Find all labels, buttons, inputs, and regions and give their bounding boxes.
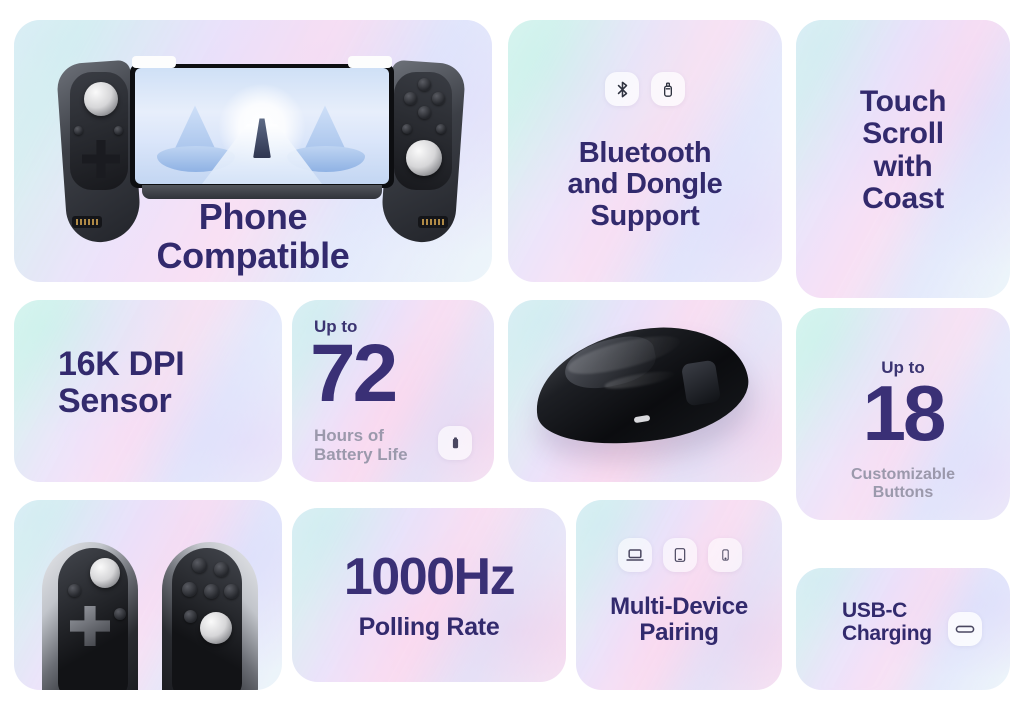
card-touch-scroll[interactable]: Touch Scroll with Coast <box>796 20 1010 298</box>
card-content <box>508 300 782 482</box>
bluetooth-icon <box>605 72 639 106</box>
card-bluetooth-dongle[interactable]: Bluetooth and Dongle Support <box>508 20 782 282</box>
card-headline: Touch Scroll with Coast <box>796 86 1010 216</box>
card-dpi-sensor[interactable]: 16K DPI Sensor <box>14 300 282 482</box>
card-content: Phone Compatible <box>14 20 492 282</box>
controller-grips-photo <box>14 500 282 690</box>
feature-grid: Phone Compatible Bluetooth and Dongle Su… <box>0 0 1024 707</box>
card-subtitle: Polling Rate <box>292 614 566 641</box>
card-headline: Phone Compatible <box>14 198 492 276</box>
card-content: USB-C Charging <box>796 568 1010 690</box>
card-subtitle: Hours of Battery Life <box>314 426 408 465</box>
card-headline: Bluetooth and Dongle Support <box>508 138 782 232</box>
card-headline: Multi-Device Pairing <box>576 594 782 646</box>
card-value: 1000Hz <box>292 554 566 602</box>
card-content: 1000Hz Polling Rate <box>292 508 566 682</box>
card-content <box>14 500 282 690</box>
card-subtitle: Customizable Buttons <box>796 466 1010 502</box>
usb-c-port-icon <box>948 612 982 646</box>
battery-icon <box>438 426 472 460</box>
card-usb-c-charging[interactable]: USB-C Charging <box>796 568 1010 690</box>
tablet-icon <box>663 538 697 572</box>
card-value: 72 <box>310 336 395 411</box>
card-headline: USB-C Charging <box>842 600 932 645</box>
card-customizable-buttons[interactable]: Up to 18 Customizable Buttons <box>796 308 1010 520</box>
card-battery-life[interactable]: Up to 72 Hours of Battery Life <box>292 300 494 482</box>
usb-dongle-icon <box>651 72 685 106</box>
wireless-mouse-photo <box>508 300 782 482</box>
card-phone-compatible[interactable]: Phone Compatible <box>14 20 492 282</box>
card-content: Bluetooth and Dongle Support <box>508 20 782 282</box>
card-headline: 16K DPI Sensor <box>58 346 184 419</box>
card-content: 16K DPI Sensor <box>14 300 282 482</box>
card-content: Up to 72 Hours of Battery Life <box>292 300 494 482</box>
card-content: Touch Scroll with Coast <box>796 20 1010 298</box>
card-multi-device-pairing[interactable]: Multi-Device Pairing <box>576 500 782 690</box>
card-content: Up to 18 Customizable Buttons <box>796 308 1010 520</box>
card-mouse-photo[interactable] <box>508 300 782 482</box>
card-polling-rate[interactable]: 1000Hz Polling Rate <box>292 508 566 682</box>
card-controller-grips-photo[interactable] <box>14 500 282 690</box>
laptop-icon <box>618 538 652 572</box>
phone-icon <box>708 538 742 572</box>
card-value: 18 <box>796 378 1010 450</box>
card-content: Multi-Device Pairing <box>576 500 782 690</box>
